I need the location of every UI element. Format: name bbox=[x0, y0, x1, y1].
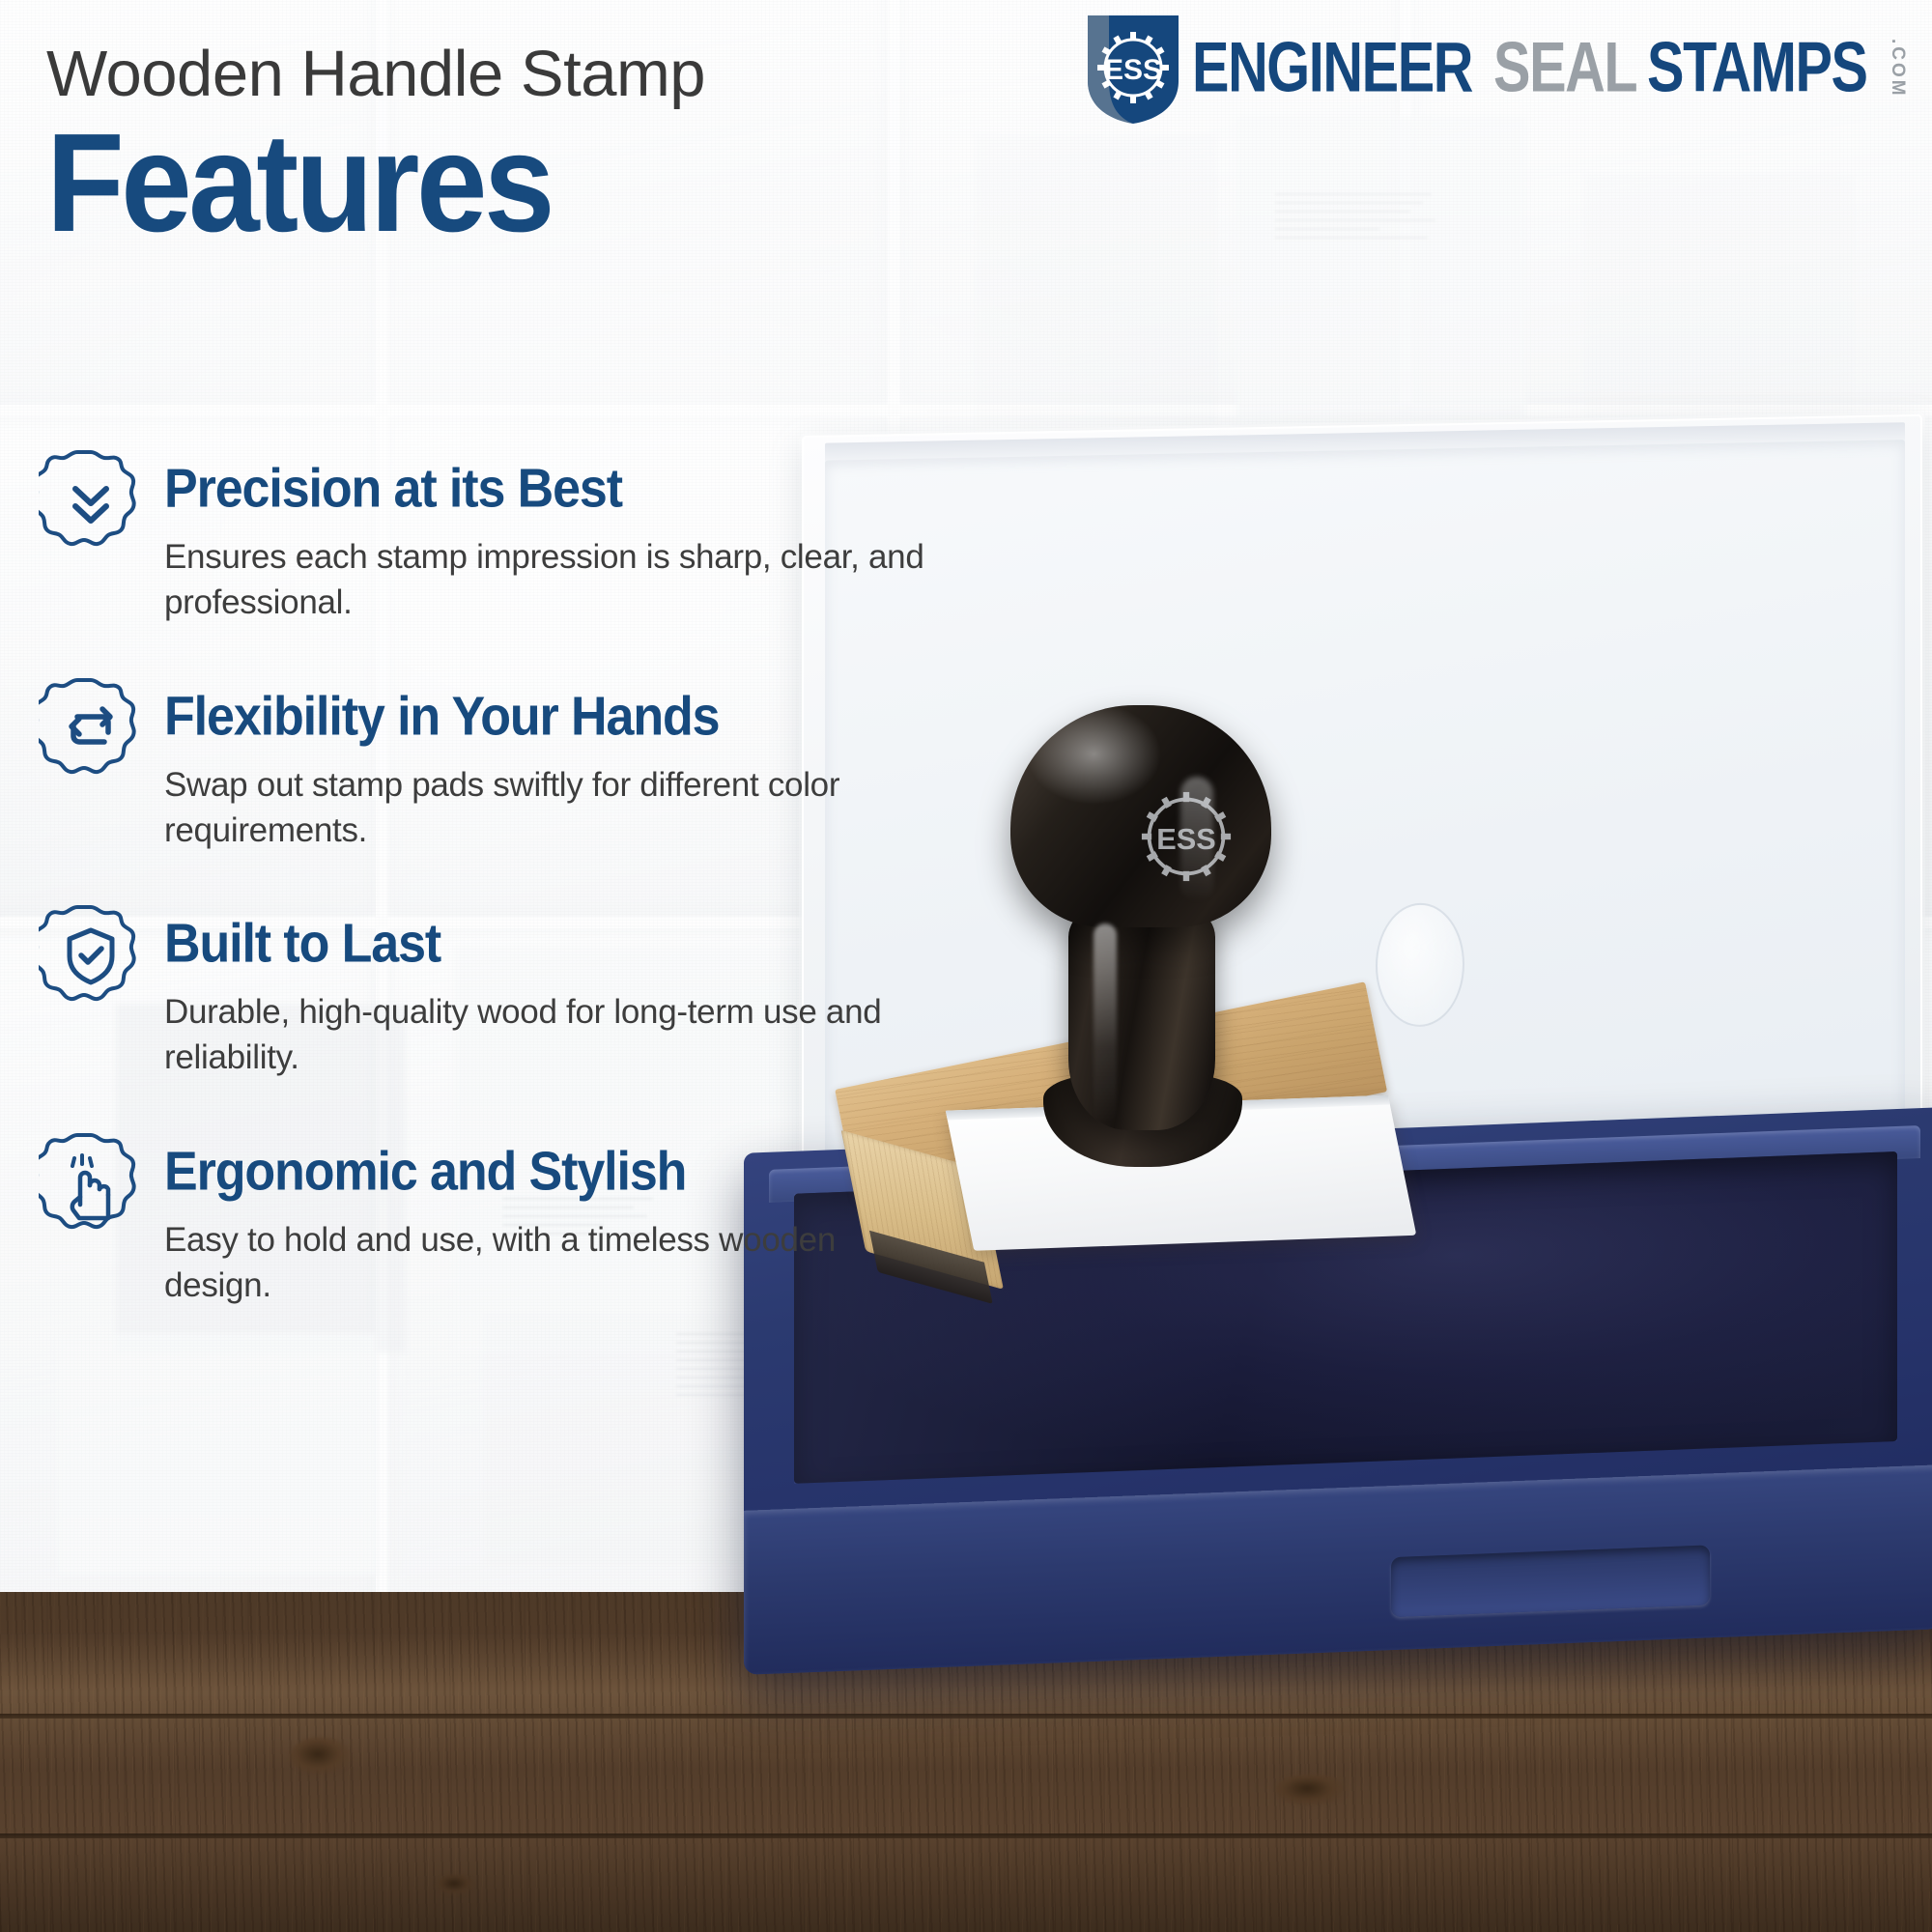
feature-item: Precision at its Best Ensures each stamp… bbox=[39, 454, 1005, 626]
lid-dimple bbox=[1376, 902, 1464, 1028]
handle-highlight bbox=[1094, 923, 1117, 1124]
logo-word-seal: SEAL bbox=[1493, 33, 1636, 103]
feature-description: Durable, high-quality wood for long-term… bbox=[164, 989, 937, 1081]
infographic-canvas: ESS Wooden Handle Stamp Features bbox=[0, 0, 1932, 1932]
feature-text: Flexibility in Your Hands Swap out stamp… bbox=[164, 682, 937, 854]
feature-description: Easy to hold and use, with a timeless wo… bbox=[164, 1217, 937, 1309]
feature-description: Swap out stamp pads swiftly for differen… bbox=[164, 762, 937, 854]
feature-item: Ergonomic and Stylish Easy to hold and u… bbox=[39, 1137, 1005, 1309]
page-subtitle: Wooden Handle Stamp bbox=[46, 41, 705, 108]
feature-title: Built to Last bbox=[164, 917, 937, 972]
logo-word-engineer: ENGINEER bbox=[1192, 33, 1472, 103]
double-chevron-down-badge-icon bbox=[39, 446, 143, 551]
shield-check-badge-icon bbox=[39, 901, 143, 1006]
handle-emblem-text: ESS bbox=[1156, 822, 1215, 856]
ess-shield-gear-icon: ESS bbox=[1076, 12, 1190, 126]
case-front-panel bbox=[744, 1464, 1932, 1675]
feature-text: Ergonomic and Stylish Easy to hold and u… bbox=[164, 1137, 937, 1309]
feature-description: Ensures each stamp impression is sharp, … bbox=[164, 534, 937, 626]
feature-item: Flexibility in Your Hands Swap out stamp… bbox=[39, 682, 1005, 854]
logo-wordmark: ENGINEER SEAL STAMPS bbox=[1192, 39, 1884, 99]
page-title: Features bbox=[46, 114, 705, 251]
feature-item: Built to Last Durable, high-quality wood… bbox=[39, 909, 1005, 1081]
handle-ess-emblem-icon: ESS bbox=[1124, 775, 1248, 898]
feature-text: Precision at its Best Ensures each stamp… bbox=[164, 454, 937, 626]
stamp-handle: ESS bbox=[1001, 705, 1281, 1159]
feature-text: Built to Last Durable, high-quality wood… bbox=[164, 909, 937, 1081]
hand-tap-badge-icon bbox=[39, 1129, 143, 1234]
feature-title: Flexibility in Your Hands bbox=[164, 690, 937, 745]
logo-word-stamps: STAMPS bbox=[1647, 33, 1867, 103]
feature-title: Ergonomic and Stylish bbox=[164, 1145, 937, 1200]
logo-badge-text: ESS bbox=[1104, 54, 1162, 86]
logo-tld: .COM bbox=[1889, 39, 1907, 99]
feature-title: Precision at its Best bbox=[164, 462, 937, 517]
swap-arrows-badge-icon bbox=[39, 674, 143, 779]
case-latch-notch bbox=[1391, 1545, 1710, 1617]
features-list: Precision at its Best Ensures each stamp… bbox=[39, 454, 1005, 1308]
handle-neck bbox=[1068, 895, 1215, 1130]
page-header: Wooden Handle Stamp Features bbox=[46, 41, 705, 239]
brand-logo[interactable]: ESS ENGINEER SEAL STAMPS .COM bbox=[1076, 12, 1907, 126]
